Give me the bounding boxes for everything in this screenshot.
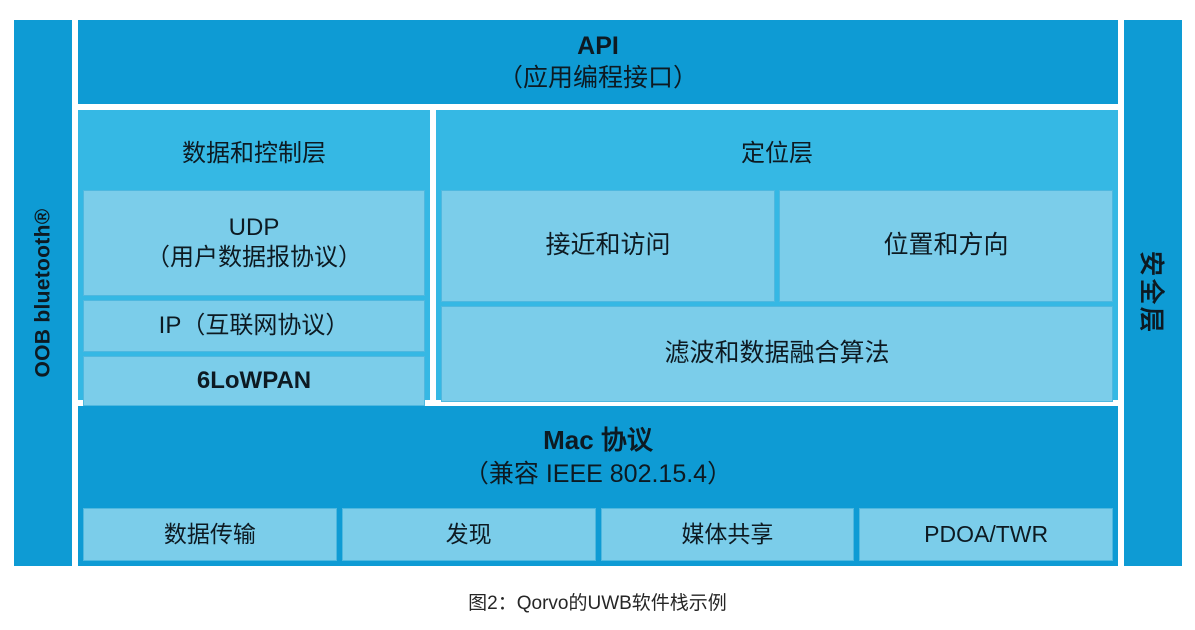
- block-udp-line2: （用户数据报协议）: [146, 243, 362, 273]
- block-udp: UDP （用户数据报协议）: [83, 190, 425, 296]
- rail-oob-bluetooth: OOB bluetooth®: [14, 20, 72, 566]
- layer-api-subtitle: （应用编程接口）: [498, 62, 698, 94]
- block-media-sharing-label: 媒体共享: [681, 520, 773, 549]
- layer-positioning: 定位层 接近和访问 位置和方向 滤波和数据融合算法: [436, 110, 1118, 400]
- block-data-transfer: 数据传输: [83, 508, 337, 561]
- layer-positioning-title: 定位层: [436, 110, 1118, 190]
- block-media-sharing: 媒体共享: [601, 508, 855, 561]
- layer-mac-protocol: Mac 协议 （兼容 IEEE 802.15.4） 数据传输 发现 媒体共享 P…: [78, 406, 1118, 566]
- block-filtering-data-fusion-label: 滤波和数据融合算法: [664, 338, 889, 370]
- block-ip-label: IP（互联网协议）: [159, 311, 350, 341]
- layer-data-and-control-body: UDP （用户数据报协议） IP（互联网协议） 6LoWPAN: [78, 190, 430, 400]
- uwb-software-stack-diagram: OOB bluetooth® API （应用编程接口） 数据和控制层 UDP （…: [14, 20, 1182, 566]
- block-udp-line1: UDP: [229, 213, 280, 243]
- block-location-direction-label: 位置和方向: [883, 230, 1008, 262]
- rail-security-layer-label: 安全层: [1135, 251, 1171, 335]
- positioning-split-row: 接近和访问 位置和方向: [441, 190, 1113, 302]
- block-filtering-data-fusion: 滤波和数据融合算法: [441, 306, 1113, 402]
- block-location-direction: 位置和方向: [779, 190, 1113, 302]
- block-pdoa-twr-label: PDOA/TWR: [924, 520, 1048, 549]
- stack-center-column: API （应用编程接口） 数据和控制层 UDP （用户数据报协议） IP（互联网…: [78, 20, 1118, 566]
- block-6lowpan: 6LoWPAN: [83, 356, 425, 406]
- block-discovery: 发现: [342, 508, 596, 561]
- rail-security-layer: 安全层: [1124, 20, 1182, 566]
- layer-mac-protocol-subtitle: （兼容 IEEE 802.15.4）: [464, 458, 732, 491]
- block-discovery-label: 发现: [446, 520, 492, 549]
- mac-feature-row: 数据传输 发现 媒体共享 PDOA/TWR: [78, 508, 1118, 566]
- block-6lowpan-label: 6LoWPAN: [197, 366, 311, 396]
- block-ip: IP（互联网协议）: [83, 300, 425, 352]
- rail-oob-bluetooth-label: OOB bluetooth®: [31, 209, 55, 378]
- block-proximity-access-label: 接近和访问: [545, 230, 670, 262]
- layer-mac-protocol-title: Mac 协议: [543, 424, 653, 458]
- middle-layers-row: 数据和控制层 UDP （用户数据报协议） IP（互联网协议） 6LoWPAN: [78, 110, 1118, 400]
- layer-api: API （应用编程接口）: [78, 20, 1118, 104]
- block-data-transfer-label: 数据传输: [164, 520, 256, 549]
- layer-data-and-control-title: 数据和控制层: [78, 110, 430, 190]
- block-proximity-access: 接近和访问: [441, 190, 775, 302]
- layer-data-and-control: 数据和控制层 UDP （用户数据报协议） IP（互联网协议） 6LoWPAN: [78, 110, 430, 400]
- layer-mac-protocol-heading: Mac 协议 （兼容 IEEE 802.15.4）: [78, 406, 1118, 508]
- layer-api-title: API: [577, 30, 619, 62]
- block-pdoa-twr: PDOA/TWR: [859, 508, 1113, 561]
- figure-caption: 图2：Qorvo的UWB软件栈示例: [0, 588, 1195, 615]
- layer-positioning-body: 接近和访问 位置和方向 滤波和数据融合算法: [436, 190, 1118, 400]
- figure-container: OOB bluetooth® API （应用编程接口） 数据和控制层 UDP （…: [0, 0, 1195, 630]
